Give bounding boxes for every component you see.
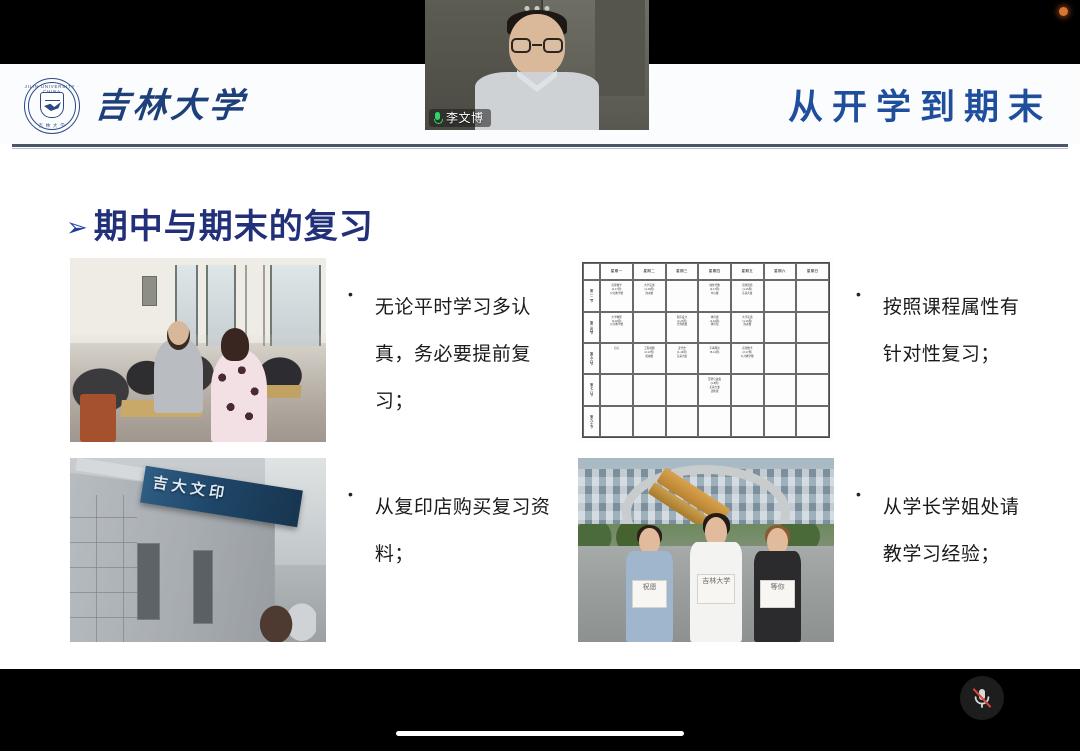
slide-header-title: 从开学到期末 <box>788 86 1052 130</box>
timetable-row-2: 第三四节 <box>583 312 600 343</box>
bottom-toolbar <box>0 669 1080 751</box>
bullet-dot-icon: • <box>348 484 353 578</box>
microphone-muted-icon <box>970 686 994 710</box>
bullet-text-course-attribute: 按照课程属性有针对性复习； <box>883 284 1038 378</box>
participant-name: 李文博 <box>446 111 484 125</box>
timetable-col-2: 星期二 <box>633 263 666 280</box>
bullet-item-study-hard: • 无论平时学习多认真，务必要提前复习； <box>326 258 565 425</box>
content-row-2: 吉大文印 • 从复印店购买复习资料； <box>70 458 1038 642</box>
seal-text-bottom: 吉 林 大 学 <box>24 123 80 129</box>
student-sign-3: 等你 <box>761 581 794 594</box>
content-cell-top-left: • 无论平时学习多认真，务必要提前复习； <box>70 258 578 442</box>
bullet-item-ask-seniors: • 从学长学姐处请教学习经验； <box>834 458 1038 578</box>
home-indicator-bar <box>396 731 684 736</box>
slide-title: ➢ 期中与期末的复习 <box>66 206 374 248</box>
copy-shop-sign-text: 吉大文印 <box>151 471 229 504</box>
bullet-item-course-attribute: • 按照课程属性有针对性复习； <box>834 258 1038 378</box>
timetable-col-5: 星期五 <box>731 263 764 280</box>
header-divider <box>12 144 1068 147</box>
bullet-arrow-icon: ➢ <box>66 214 88 240</box>
timetable-col-3: 星期三 <box>666 263 699 280</box>
slide-content-grid: • 无论平时学习多认真，务必要提前复习； 星期一 星期二 星期三 星期四 星期五 <box>70 258 1038 658</box>
timetable-row-1: 第一二节 <box>583 280 600 311</box>
timetable-col-1: 星期一 <box>600 263 633 280</box>
slide-title-text: 期中与期末的复习 <box>94 206 374 248</box>
glasses-shape <box>511 38 563 53</box>
university-seal-icon: JILIN UNIVERSITY · CHINA 吉 林 大 学 <box>24 78 80 134</box>
mute-toggle-button[interactable] <box>960 676 1004 720</box>
bullet-dot-icon: • <box>856 484 861 578</box>
classroom-students-studying-photo <box>70 258 326 442</box>
campus-copy-shop-photo: 吉大文印 <box>70 458 326 642</box>
recording-dot-icon <box>1059 7 1068 16</box>
header-divider-secondary <box>12 148 1068 149</box>
timetable-row-3: 第五六节 <box>583 343 600 374</box>
bullet-dot-icon: • <box>348 284 353 425</box>
student-sign-2: 吉林大学 <box>698 575 734 588</box>
microphone-on-icon <box>433 112 442 125</box>
bullet-text-ask-seniors: 从学长学姐处请教学习经验； <box>883 484 1038 578</box>
screen-root: JILIN UNIVERSITY · CHINA 吉 林 大 学 吉林大学 从开… <box>0 0 1080 751</box>
timetable-col-7: 星期日 <box>796 263 829 280</box>
timetable-row-5: 第九十节 <box>583 406 600 437</box>
participant-video-window[interactable]: 李文博 <box>425 0 649 130</box>
university-name: 吉林大学 <box>93 84 249 128</box>
content-cell-top-right: 星期一 星期二 星期三 星期四 星期五 星期六 星期日 第一二节 高等数学(2-… <box>578 258 1038 442</box>
presentation-slide[interactable]: JILIN UNIVERSITY · CHINA 吉 林 大 学 吉林大学 从开… <box>0 64 1080 669</box>
timetable-grid: 星期一 星期二 星期三 星期四 星期五 星期六 星期日 第一二节 高等数学(2-… <box>582 262 830 438</box>
three-students-holding-signs-photo: 祝愿 吉林大学 等你 <box>578 458 834 642</box>
timetable-col-4: 星期四 <box>698 263 731 280</box>
content-cell-bottom-left: 吉大文印 • 从复印店购买复习资料； <box>70 458 578 642</box>
bullet-dot-icon: • <box>856 284 861 378</box>
timetable-col-6: 星期六 <box>764 263 797 280</box>
content-row-1: • 无论平时学习多认真，务必要提前复习； 星期一 星期二 星期三 星期四 星期五 <box>70 258 1038 442</box>
student-sign-1: 祝愿 <box>633 581 666 594</box>
content-cell-bottom-right: 祝愿 吉林大学 等你 • 从学长学姐处请教学习经验； <box>578 458 1038 642</box>
bullet-item-copy-shop: • 从复印店购买复习资料； <box>326 458 565 578</box>
bullet-text-copy-shop: 从复印店购买复习资料； <box>375 484 565 578</box>
timetable-row-4: 第七八节 <box>583 374 600 405</box>
class-timetable-photo: 星期一 星期二 星期三 星期四 星期五 星期六 星期日 第一二节 高等数学(2-… <box>578 258 834 442</box>
participant-name-chip: 李文博 <box>429 109 491 127</box>
bullet-text-study-hard: 无论平时学习多认真，务必要提前复习； <box>375 284 565 425</box>
